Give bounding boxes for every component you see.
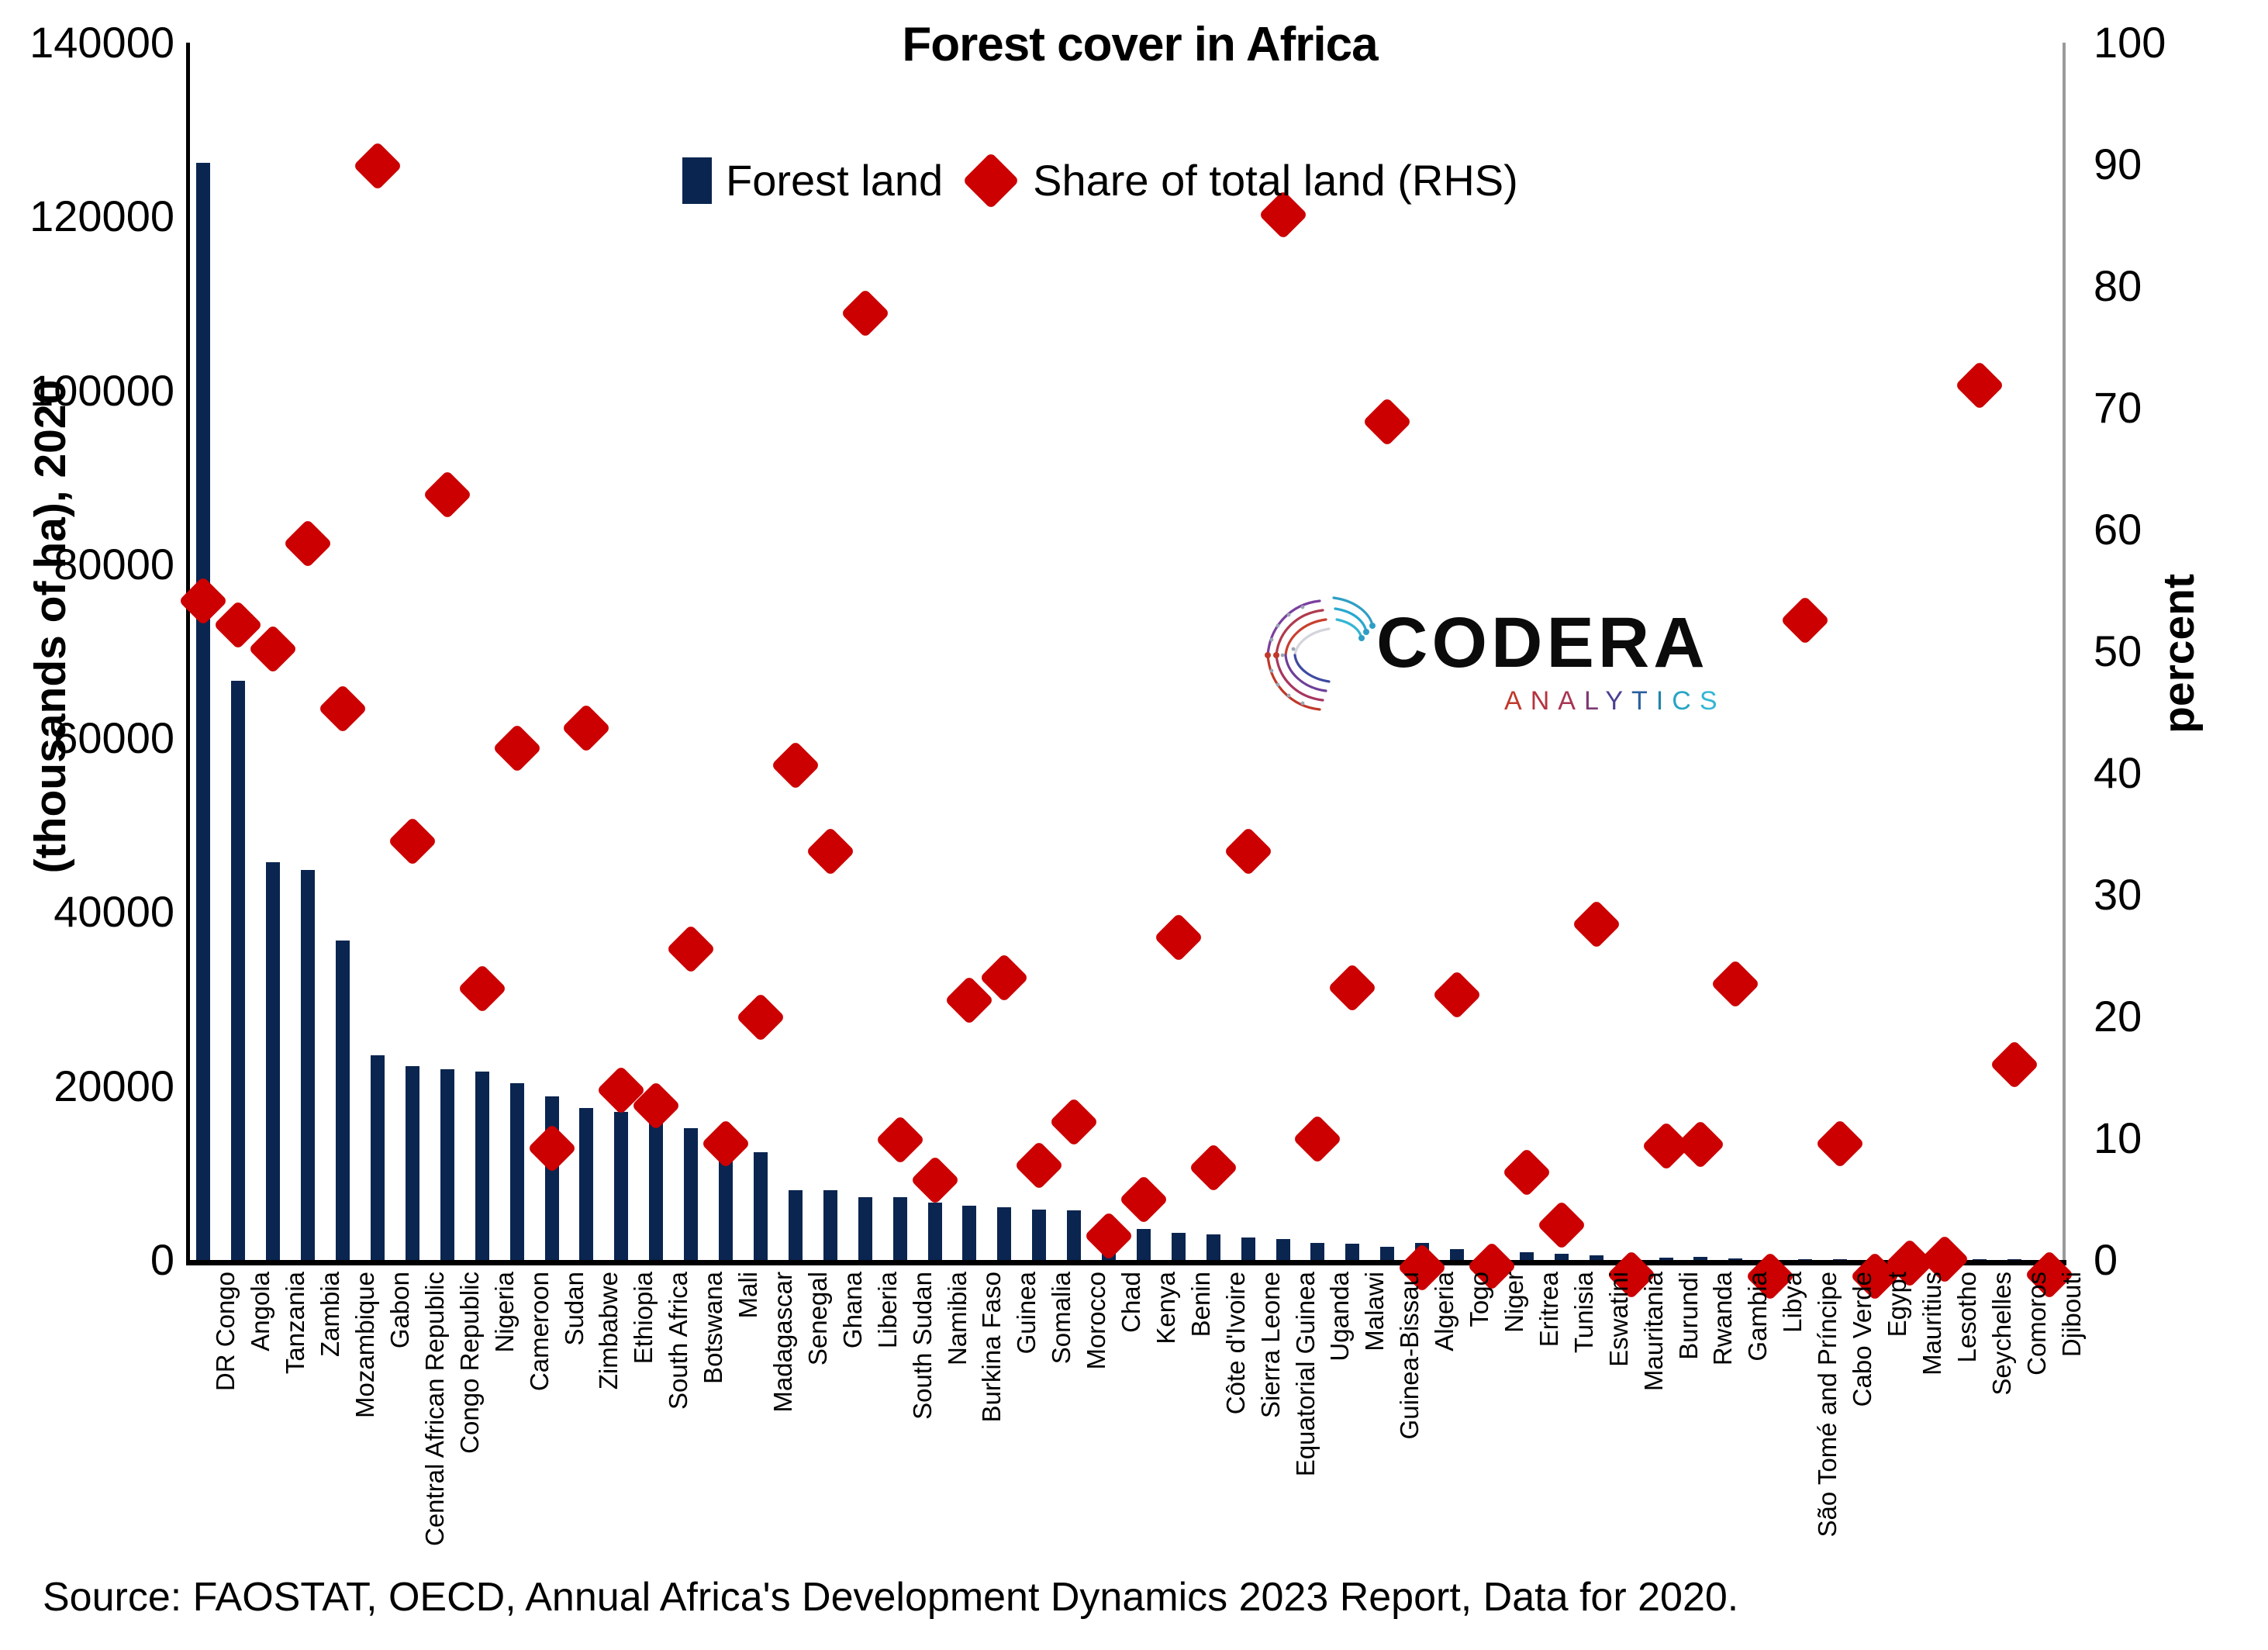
chart-figure: Forest cover in Africa (thousands of ha)… (0, 0, 2268, 1650)
diamond-marker (283, 519, 333, 568)
bar (1520, 1252, 1534, 1260)
bar (1206, 1234, 1220, 1260)
y-axis-tick-label: 40000 (0, 890, 174, 934)
diamond-marker (1780, 595, 1830, 645)
x-axis-tick-label: Senegal (805, 1272, 830, 1365)
y2-axis-tick-label: 70 (2094, 386, 2268, 430)
diamond-marker (1084, 1211, 1134, 1261)
diamond-marker (806, 827, 855, 876)
x-axis-tick-label: Malawi (1362, 1272, 1387, 1351)
right-axis-line (2063, 43, 2066, 1260)
x-axis-tick-label: Guinea-Bissau (1396, 1272, 1422, 1439)
y-axis-tick-label: 100000 (0, 369, 174, 412)
x-axis-tick-label: Central African Republic (422, 1272, 447, 1546)
diamond-marker (388, 817, 437, 867)
x-axis-tick-label: Tunisia (1571, 1272, 1597, 1353)
bar (406, 1066, 419, 1260)
y-axis-tick-label: 140000 (0, 21, 174, 64)
diamond-marker (1293, 1114, 1343, 1164)
y2-axis-tick-label: 60 (2094, 508, 2268, 551)
logo-subtitle-letter: C (1672, 686, 1700, 716)
bar (1798, 1259, 1812, 1260)
x-axis-tick-label: South Sudan (910, 1272, 935, 1420)
chart-legend: Forest land Share of total land (RHS) (682, 155, 1518, 205)
x-axis-tick-label: Cabo Verde (1849, 1272, 1875, 1407)
bar (336, 941, 350, 1260)
x-axis-tick-label: Mozambique (352, 1272, 378, 1418)
logo-subtitle-letter: A (1504, 686, 1531, 716)
diamond-marker (1014, 1141, 1064, 1190)
bottom-axis-line (186, 1260, 2066, 1265)
bar (1833, 1259, 1847, 1260)
diamond-marker (562, 704, 612, 754)
y-axis-tick-label: 0 (0, 1238, 174, 1282)
x-axis-tick-label: Liberia (875, 1272, 900, 1348)
diamond-marker (1362, 397, 1412, 447)
x-axis-tick-label: Eswatini (1606, 1272, 1631, 1367)
diamond-marker (1537, 1200, 1586, 1250)
bar (1728, 1258, 1742, 1260)
x-axis-tick-label: Libya (1780, 1272, 1805, 1333)
plot-area (186, 43, 2066, 1260)
bar (858, 1197, 872, 1260)
diamond-marker (736, 992, 785, 1042)
x-axis-tick-label: Madagascar (770, 1272, 796, 1413)
bar (266, 862, 280, 1260)
diamond-marker (910, 1155, 960, 1205)
bar (1137, 1229, 1151, 1260)
legend-label: Share of total land (RHS) (1033, 155, 1518, 205)
diamond-marker (1224, 827, 1273, 876)
diamond-marker (423, 470, 472, 520)
diamond-marker (771, 740, 820, 790)
bar (196, 163, 210, 1260)
bar (231, 681, 245, 1260)
x-axis-tick-label: Chad (1118, 1272, 1144, 1333)
diamond-marker (1815, 1119, 1865, 1168)
diamond-marker (1990, 1040, 2039, 1089)
x-axis-tick-label: Sierra Leone (1258, 1272, 1283, 1418)
bar (1973, 1259, 1987, 1260)
y2-axis-tick-label: 0 (2094, 1238, 2268, 1282)
bar (1241, 1237, 1255, 1260)
bar (1659, 1258, 1673, 1260)
diamond-marker (1328, 963, 1378, 1013)
x-axis-tick-label: Kenya (1153, 1272, 1179, 1345)
y2-axis-tick-label: 80 (2094, 264, 2268, 308)
x-axis-tick-label: Togo (1466, 1272, 1492, 1327)
x-axis-tick-label: Ghana (840, 1272, 865, 1348)
bar (579, 1108, 593, 1260)
y2-axis-tick-label: 100 (2094, 21, 2268, 64)
diamond-marker (457, 965, 507, 1014)
logo-subtitle-letter: I (1656, 686, 1672, 716)
bar (475, 1072, 489, 1260)
x-axis-tick-label: Zimbabwe (595, 1272, 621, 1389)
x-axis-tick-label: Guinea (1013, 1272, 1039, 1354)
bar (440, 1069, 454, 1260)
y2-axis-tick-label: 40 (2094, 751, 2268, 795)
bar (2007, 1259, 2021, 1260)
bar (510, 1083, 524, 1260)
bar (823, 1190, 837, 1260)
logo-subtitle-letter: T (1631, 686, 1656, 716)
diamond-marker (841, 288, 890, 338)
diamond-marker (1189, 1143, 1238, 1193)
logo-subtitle-letter: L (1584, 686, 1605, 716)
x-axis-tick-label: Namibia (944, 1272, 970, 1365)
diamond-marker (1711, 959, 1761, 1009)
x-axis-tick-label: Burkina Faso (979, 1272, 1004, 1422)
x-axis-tick-label: Mali (735, 1272, 761, 1319)
source-note: Source: FAOSTAT, OECD, Annual Africa's D… (43, 1574, 1738, 1621)
x-axis-tick-label: Sudan (561, 1272, 587, 1345)
x-axis-tick-label: Morocco (1083, 1272, 1109, 1370)
x-axis-tick-label: Côte d'Ivoire (1223, 1272, 1248, 1414)
bar (1380, 1247, 1394, 1260)
x-axis-tick-label: Cameroon (526, 1272, 552, 1391)
bar (1450, 1249, 1464, 1260)
x-axis-tick-label: Congo Republic (457, 1272, 482, 1454)
y-axis-tick-label: 120000 (0, 195, 174, 238)
y2-axis-tick-label: 20 (2094, 995, 2268, 1038)
diamond-marker (666, 924, 716, 974)
x-axis-tick-label: Equatorial Guinea (1293, 1272, 1318, 1476)
x-axis-labels: DR CongoAngolaTanzaniaZambiaMozambiqueGa… (186, 1272, 2066, 1566)
x-axis-tick-label: Algeria (1431, 1272, 1457, 1351)
bar (371, 1055, 385, 1260)
diamond-marker (1502, 1148, 1552, 1198)
x-axis-tick-label: Zambia (317, 1272, 343, 1357)
y-axis-tick-label: 60000 (0, 716, 174, 760)
bar (754, 1152, 768, 1260)
x-axis-tick-label: Egypt (1884, 1272, 1910, 1337)
x-axis-tick-label: Djibouti (2059, 1272, 2084, 1357)
diamond-marker (318, 684, 368, 734)
diamond-marker (1154, 913, 1203, 963)
diamond-marker (1676, 1120, 1726, 1170)
x-axis-tick-label: Ethiopia (630, 1272, 656, 1364)
bar (1555, 1254, 1569, 1260)
bar (928, 1203, 942, 1260)
bar (1032, 1210, 1046, 1260)
y2-axis-tick-label: 10 (2094, 1117, 2268, 1160)
logo-subtitle-letter: Y (1605, 686, 1631, 716)
x-axis-tick-label: Mauritania (1641, 1272, 1666, 1391)
bar (614, 1112, 628, 1260)
legend-item-forest-land[interactable]: Forest land (682, 155, 943, 205)
diamond-marker (1955, 361, 2004, 410)
x-axis-tick-label: Tanzania (282, 1272, 308, 1374)
x-axis-tick-label: Gambia (1745, 1272, 1770, 1362)
bar (301, 870, 315, 1260)
bar (962, 1206, 976, 1260)
x-axis-tick-label: Botswana (700, 1272, 726, 1384)
diamond-marker (875, 1115, 925, 1165)
y-axis-tick-label: 80000 (0, 543, 174, 586)
bar (1276, 1239, 1290, 1260)
x-axis-tick-label: Seychelles (1989, 1272, 2014, 1396)
logo-subtitle: ANALYTICS (1504, 686, 1726, 716)
bar (893, 1197, 907, 1260)
x-axis-tick-label: Niger (1501, 1272, 1527, 1333)
bar (1693, 1257, 1707, 1260)
x-axis-tick-label: DR Congo (212, 1272, 238, 1391)
diamond-marker (1432, 970, 1482, 1020)
bar (1310, 1243, 1324, 1260)
bar (997, 1207, 1011, 1260)
x-axis-tick-label: Comoros (2024, 1272, 2049, 1376)
bar (684, 1128, 698, 1260)
x-axis-tick-label: Nigeria (492, 1272, 517, 1353)
diamond-marker (492, 723, 542, 773)
diamond-marker (527, 1124, 577, 1173)
bar (1590, 1255, 1603, 1260)
x-axis-tick-label: Lesotho (1954, 1272, 1980, 1362)
x-axis-tick-label: Rwanda (1710, 1272, 1735, 1365)
y-axis-tick-label: 20000 (0, 1065, 174, 1108)
logo-wordmark: CODERA (1376, 602, 1709, 684)
diamond-marker (1049, 1097, 1099, 1147)
left-axis-line (186, 43, 190, 1260)
codera-logo: CODERA ANALYTICS (1248, 570, 1698, 748)
x-axis-tick-label: Benin (1188, 1272, 1213, 1337)
x-axis-tick-label: Mauritius (1919, 1272, 1945, 1376)
legend-item-share-of-total-land[interactable]: Share of total land (RHS) (963, 155, 1518, 205)
diamond-swatch-icon (962, 152, 1020, 209)
logo-subtitle-letter: N (1531, 686, 1559, 716)
bar-swatch-icon (682, 157, 712, 204)
x-axis-tick-label: Gabon (387, 1272, 413, 1348)
x-axis-tick-label: Somalia (1048, 1272, 1074, 1364)
legend-label: Forest land (726, 155, 943, 205)
bar (789, 1190, 803, 1260)
x-axis-tick-label: Burundi (1676, 1272, 1701, 1360)
y2-axis-tick-label: 90 (2094, 143, 2268, 186)
x-axis-tick-label: Uganda (1327, 1272, 1352, 1362)
y2-axis-tick-label: 50 (2094, 630, 2268, 673)
diamond-marker (1119, 1175, 1169, 1224)
x-axis-tick-label: Angola (247, 1272, 273, 1351)
diamond-marker (1572, 899, 1621, 949)
diamond-marker (248, 625, 298, 675)
bar (1067, 1210, 1081, 1260)
logo-subtitle-letter: A (1558, 686, 1584, 716)
x-axis-tick-label: Eritrea (1536, 1272, 1562, 1347)
diamond-marker (701, 1119, 751, 1168)
logo-subtitle-letter: S (1700, 686, 1726, 716)
bar (1172, 1233, 1186, 1260)
x-axis-tick-label: São Tomé and Príncipe (1814, 1272, 1840, 1537)
bar (649, 1112, 663, 1260)
bar (1345, 1244, 1359, 1260)
x-axis-tick-label: South Africa (665, 1272, 691, 1410)
bar (545, 1096, 559, 1260)
diamond-marker (353, 141, 402, 191)
y2-axis-tick-label: 30 (2094, 873, 2268, 916)
